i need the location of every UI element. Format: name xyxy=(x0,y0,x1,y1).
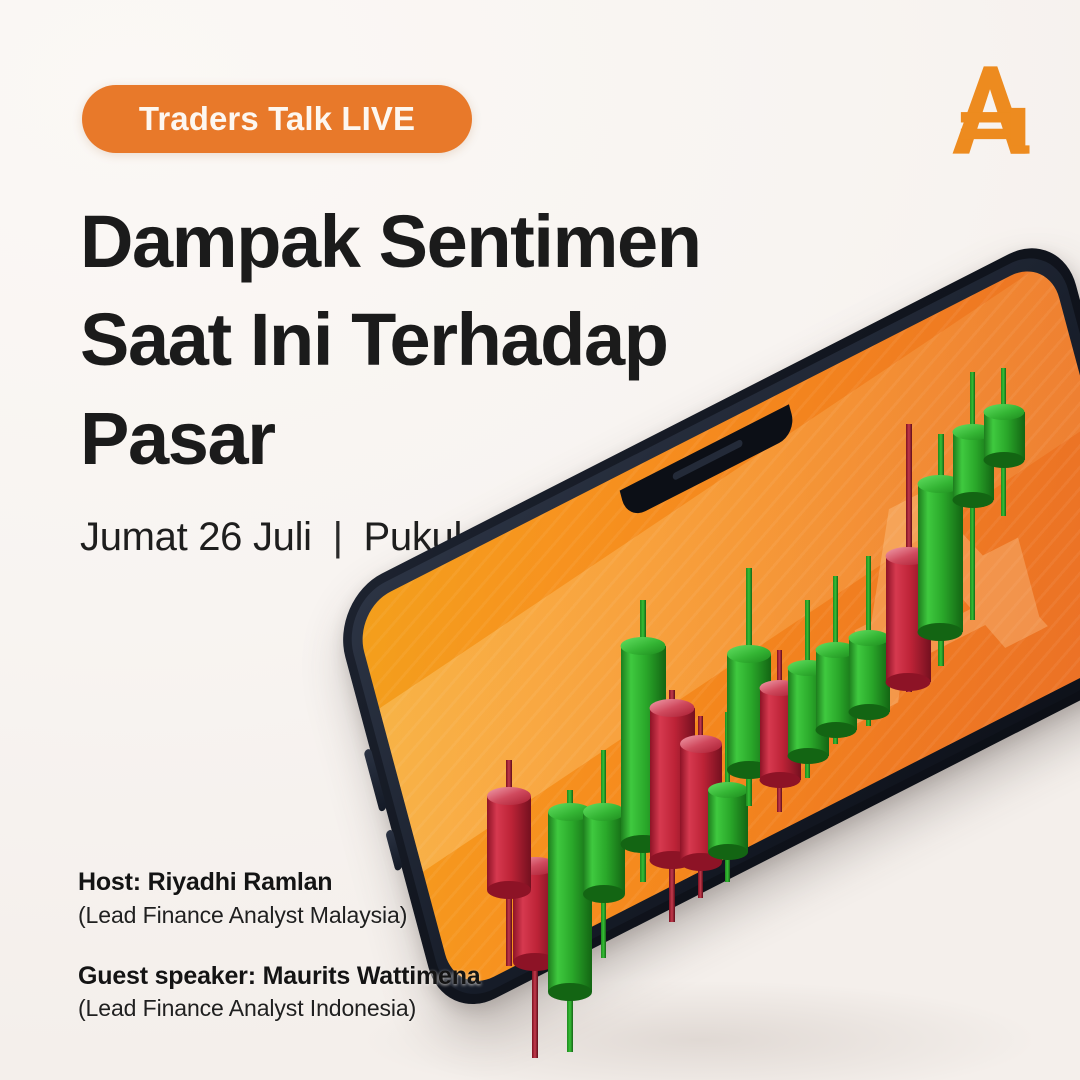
credit-guest: Guest speaker: Maurits Wattimena (Lead F… xyxy=(78,960,548,1026)
schedule-separator: | xyxy=(333,515,343,560)
a-monogram-logo xyxy=(938,58,1042,162)
credits: Host: Riyadhi Ramlan (Lead Finance Analy… xyxy=(78,866,548,1026)
credit-host-name: Host: Riyadhi Ramlan xyxy=(78,866,548,899)
credit-host-role: (Lead Finance Analyst Malaysia) xyxy=(78,899,548,932)
credit-host: Host: Riyadhi Ramlan (Lead Finance Analy… xyxy=(78,866,548,932)
schedule-date: Jumat 26 Juli xyxy=(80,515,312,559)
promo-poster: Traders Talk LIVE Dampak Sentimen Saat I… xyxy=(0,0,1080,1080)
credit-guest-role: (Lead Finance Analyst Indonesia) xyxy=(78,992,548,1025)
credit-guest-name: Guest speaker: Maurits Wattimena xyxy=(78,960,548,993)
headline-line-2: Saat Ini Terhadap xyxy=(80,291,820,389)
live-badge-label: Traders Talk LIVE xyxy=(139,100,415,138)
headline-line-1: Dampak Sentimen xyxy=(80,193,820,291)
live-badge[interactable]: Traders Talk LIVE xyxy=(82,85,472,153)
